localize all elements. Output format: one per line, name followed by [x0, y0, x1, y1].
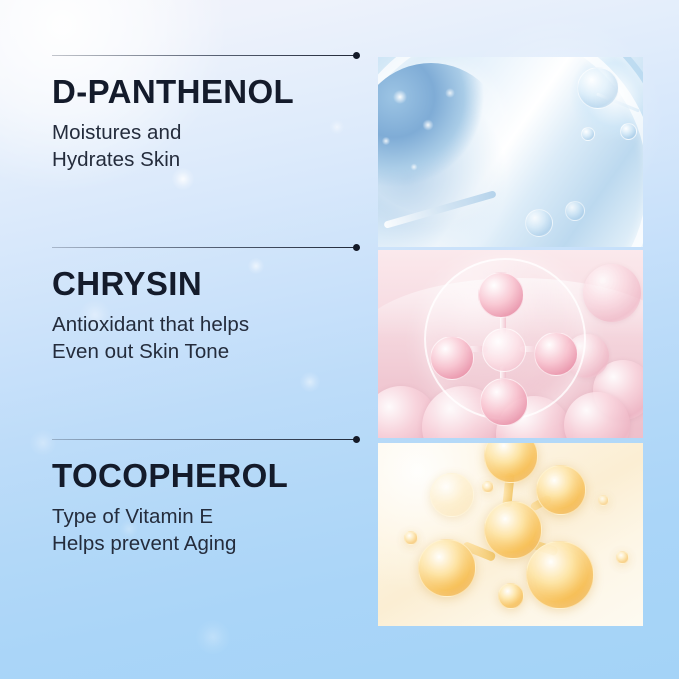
water-droplet [577, 67, 619, 109]
ingredient-description: Type of Vitamin E Helps prevent Aging [0, 494, 378, 558]
water-droplet [525, 209, 553, 237]
ingredient-image-tocopherol [378, 443, 643, 626]
ingredient-description: Antioxidant that helps Even out Skin Ton… [0, 302, 378, 366]
ingredient-description-line-2: Hydrates Skin [52, 146, 378, 173]
ingredient-headline: D-PANTHENOL [0, 64, 378, 110]
water-bubble-artwork [378, 57, 643, 247]
divider-rule [52, 432, 360, 448]
ingredient-description: Moistures and Hydrates Skin [0, 110, 378, 174]
ingredient-headline: TOCOPHEROL [0, 448, 378, 494]
divider-rule [52, 240, 360, 256]
ingredient-description-line-2: Helps prevent Aging [52, 530, 378, 557]
molecule-atom [534, 332, 578, 376]
divider-rule [52, 48, 360, 64]
gold-sphere-small [616, 551, 629, 564]
gold-sphere [418, 539, 476, 597]
gold-sphere-small [598, 495, 609, 506]
bokeh-highlight [300, 372, 320, 392]
ingredient-block-tocopherol: TOCOPHEROL Type of Vitamin E Helps preve… [0, 432, 378, 557]
ingredient-headline: CHRYSIN [0, 256, 378, 302]
molecule-atom [478, 272, 524, 318]
ingredient-image-chrysin [378, 250, 643, 438]
gold-sphere-small [404, 531, 418, 545]
ingredient-description-line-2: Even out Skin Tone [52, 338, 378, 365]
divider-line [52, 55, 354, 56]
ingredient-description-line-1: Type of Vitamin E [52, 503, 378, 530]
ingredient-block-d-panthenol: D-PANTHENOL Moistures and Hydrates Skin [0, 48, 378, 173]
gold-sphere [484, 501, 542, 559]
ingredient-infographic: D-PANTHENOL Moistures and Hydrates Skin … [0, 0, 679, 679]
water-droplet [581, 127, 595, 141]
molecule-atom [430, 336, 474, 380]
divider-line [52, 247, 354, 248]
ingredient-image-d-panthenol [378, 57, 643, 247]
ingredient-description-line-1: Moistures and [52, 119, 378, 146]
ingredient-block-chrysin: CHRYSIN Antioxidant that helps Even out … [0, 240, 378, 365]
gold-sphere-small [482, 481, 494, 493]
gold-molecule-artwork [378, 443, 643, 626]
gold-sphere [526, 541, 594, 609]
divider-dot-icon [353, 244, 360, 251]
divider-dot-icon [353, 436, 360, 443]
divider-dot-icon [353, 52, 360, 59]
gold-sphere [484, 443, 538, 483]
pink-pearl [583, 264, 641, 322]
pink-molecule-artwork [378, 250, 643, 438]
water-droplet [620, 123, 637, 140]
water-droplet [565, 201, 585, 221]
gold-sphere [536, 465, 586, 515]
gold-sphere-small [498, 583, 524, 609]
molecule-atom [480, 378, 528, 426]
molecule-atom [482, 328, 526, 372]
bokeh-highlight [196, 620, 230, 654]
ingredient-description-line-1: Antioxidant that helps [52, 311, 378, 338]
divider-line [52, 439, 354, 440]
gold-sphere [430, 473, 474, 517]
